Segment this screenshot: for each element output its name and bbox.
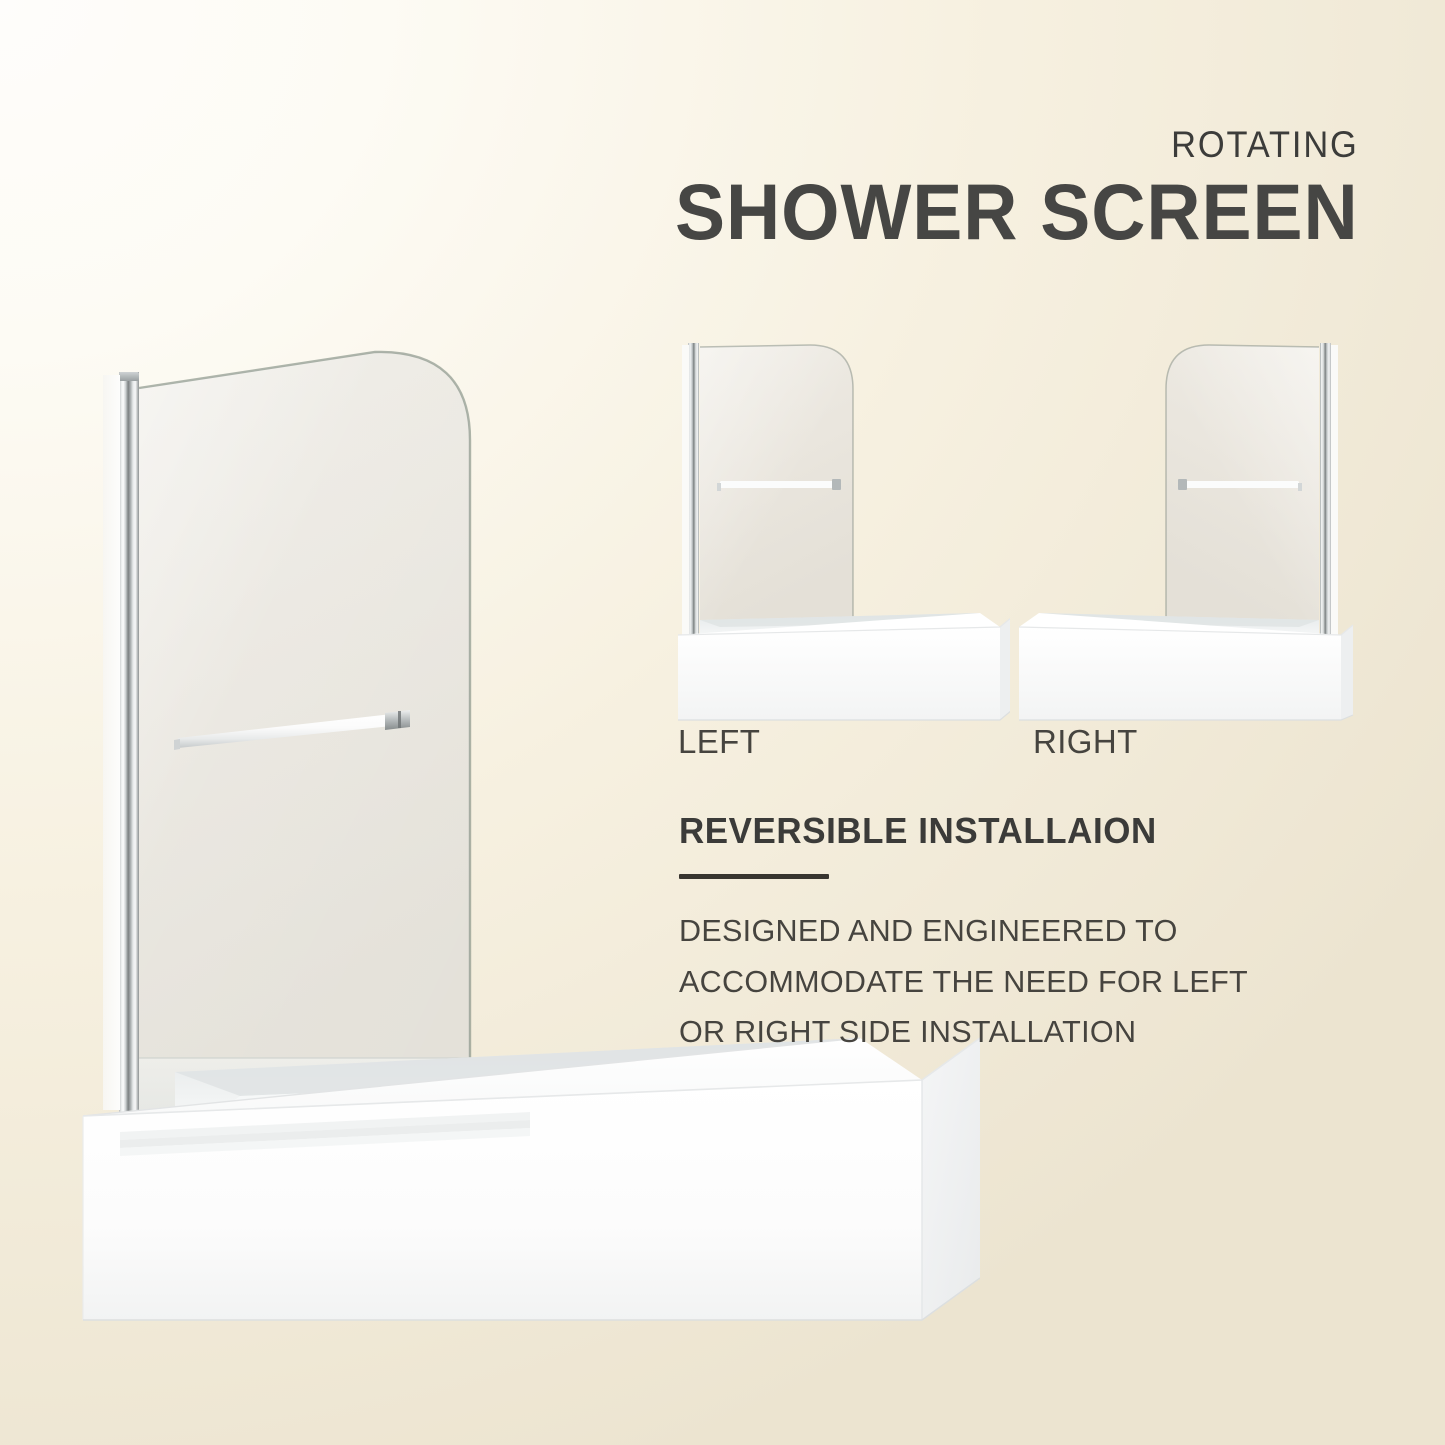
variant-left-towel-bar-bracket [832, 479, 841, 490]
page-title: SHOWER SCREEN [675, 172, 1359, 253]
variant-left-towel-bar-endcap [717, 483, 721, 491]
variant-right-towel-bar-endcap [1298, 483, 1302, 491]
variant-right-wall-jamb [1331, 345, 1338, 647]
hero-wall-jamb [103, 375, 120, 1110]
headline-block: ROTATING SHOWER SCREEN [639, 126, 1359, 253]
variant-right-hinge-post [1320, 343, 1331, 649]
feature-body: DESIGNED AND ENGINEERED TO ACCOMMODATE T… [679, 906, 1299, 1058]
variant-diagram-right: RIGHT [1015, 335, 1365, 755]
variant-left-tub-front [678, 627, 1000, 720]
hero-towel-bar-bracket [385, 710, 410, 730]
variant-left-towel-bar-shaft [720, 481, 838, 488]
variant-left-wall-jamb [682, 345, 689, 647]
variant-right-towel-bar-shaft [1181, 481, 1299, 488]
feature-body-line-3: OR RIGHT SIDE INSTALLATION [679, 1007, 1290, 1058]
variant-left-label: LEFT [678, 723, 760, 761]
variant-right-label: RIGHT [1033, 723, 1138, 761]
feature-text-panel: REVERSIBLE INSTALLAION DESIGNED AND ENGI… [679, 810, 1299, 1058]
variant-left-hinge-post [688, 343, 699, 649]
variant-right-tub-side [1341, 625, 1353, 720]
hero-tub-side-face [922, 1038, 980, 1320]
variant-right-tub-front [1019, 627, 1341, 720]
headline-eyebrow: ROTATING [690, 126, 1359, 163]
hero-bathtub [60, 1020, 980, 1410]
feature-divider [679, 874, 829, 879]
hero-towel-bar [170, 700, 420, 752]
hero-towel-bar-bracket-seam [398, 711, 401, 728]
hero-hinge-post [119, 372, 139, 1112]
variant-right-towel-bar-bracket [1178, 479, 1187, 490]
variant-diagram-left: LEFT [660, 335, 1010, 755]
hero-towel-bar-endcap [174, 739, 180, 750]
feature-body-line-2: ACCOMMODATE THE NEED FOR LEFT [679, 957, 1290, 1008]
hero-hinge-post-cap [119, 372, 139, 381]
feature-body-line-1: DESIGNED AND ENGINEERED TO [679, 906, 1290, 957]
variant-left-tub-side [1000, 617, 1010, 720]
feature-heading: REVERSIBLE INSTALLAION [679, 810, 1280, 852]
product-marketing-banner: LEFT [0, 0, 1445, 1445]
variant-right-svg [1015, 335, 1365, 755]
hero-towel-bar-shaft [178, 714, 392, 748]
variant-left-svg [660, 335, 1010, 755]
